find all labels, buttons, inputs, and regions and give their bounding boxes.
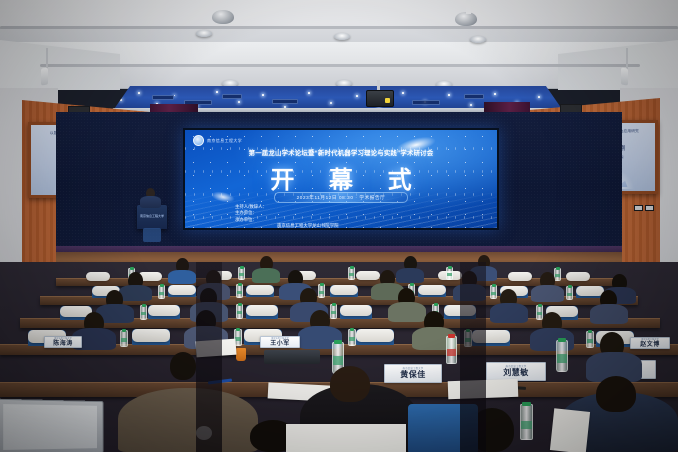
- audience-shoulders: [396, 268, 424, 283]
- water-bottle: [348, 329, 356, 346]
- ceiling-spotlight-icon: [336, 80, 352, 87]
- audience-head: [170, 352, 196, 380]
- headrest: [132, 329, 170, 342]
- headrest: [330, 285, 358, 295]
- foreground-head: [596, 376, 636, 412]
- headrest: [148, 305, 180, 316]
- water-bottle: [566, 286, 573, 300]
- ceiling-dome-camera-icon: [455, 12, 477, 26]
- headrest: [508, 272, 532, 281]
- water-bottle: [556, 340, 568, 372]
- water-bottle: [120, 330, 128, 347]
- water-bottle: [140, 305, 147, 320]
- ceiling-rail-upper: [0, 26, 678, 29]
- drink-cup: [236, 348, 246, 361]
- name-card-name: 王小军: [270, 341, 290, 347]
- headrest: [246, 285, 274, 295]
- led-ceremony-title: 开 幕 式: [185, 160, 497, 195]
- audience-shoulders: [252, 268, 280, 283]
- headrest: [168, 285, 196, 295]
- ceiling-dome-stem: [466, 0, 471, 14]
- led-university-logo: 南京信息工程大学: [193, 135, 242, 146]
- ceiling-dome-camera-icon: [212, 10, 234, 24]
- name-card: 南京信息工程大学 黄保佳: [384, 364, 442, 383]
- water-bottle: [238, 267, 245, 280]
- headrest: [418, 285, 446, 295]
- led-datetime-text: 2023年11月12日 08:30 · 学术报告厅: [297, 195, 386, 201]
- headrest: [356, 271, 380, 280]
- led-conference-headline: 第一届龙山学术论坛暨“新时代机器学习理论与实践”学术研讨会: [185, 148, 497, 157]
- name-card: 南京信息工程大学 赵文博: [630, 337, 670, 349]
- headrest: [340, 305, 372, 316]
- water-bottle: [348, 267, 355, 280]
- audience-shoulders: [590, 304, 628, 324]
- paper-sheet: [550, 408, 590, 452]
- laptop-screen[interactable]: [3, 404, 97, 450]
- led-logo-text: 南京信息工程大学: [207, 138, 242, 144]
- water-bottle: [554, 268, 561, 281]
- name-card-name: 刘慧敏: [503, 369, 529, 377]
- audience-shoulders: [490, 303, 528, 323]
- water-bottle: [446, 267, 453, 280]
- name-card-org: 南京信息工程大学: [54, 338, 72, 340]
- audience-shoulders: [168, 270, 196, 284]
- ceiling-spotlight-icon: [196, 30, 212, 37]
- ceiling-spotlight-icon: [334, 33, 350, 40]
- audience-shoulders: [119, 285, 152, 301]
- led-credits-block: 主持人/致辞人： 主办单位： 承办单位： 南京信息工程大学龙山书院学院: [235, 204, 465, 228]
- wall-switch-right-2: [645, 205, 654, 211]
- foreground-person-coat: [118, 388, 258, 452]
- led-credit-line-3: 南京信息工程大学龙山书院学院: [235, 223, 465, 228]
- water-bottle: [318, 284, 325, 298]
- name-card-name: 赵文博: [640, 342, 660, 348]
- headrest: [86, 272, 110, 281]
- ceiling-spotlight-icon: [470, 36, 486, 43]
- ceiling-rail-lower: [40, 64, 640, 67]
- wall-light-right-icon: [621, 68, 628, 86]
- aisle-left: [196, 262, 222, 452]
- water-bottle: [520, 404, 533, 440]
- wall-switch-right: [634, 205, 643, 211]
- headrest: [246, 305, 278, 316]
- foreground-head: [330, 366, 370, 402]
- podium-base: [143, 228, 161, 242]
- audience-shoulders: [388, 302, 426, 322]
- water-bottle: [586, 331, 594, 348]
- audience-shoulders: [531, 285, 564, 302]
- wall-light-arm-right: [626, 48, 628, 70]
- aisle-right: [460, 262, 486, 452]
- headrest: [566, 272, 590, 281]
- led-datetime-band: 2023年11月12日 08:30 · 学术报告厅: [274, 192, 408, 203]
- paper-sheet: [286, 424, 406, 452]
- name-card: 南京信息工程大学 陈海涛: [44, 336, 82, 348]
- projector-indicator-icon: [385, 98, 390, 103]
- name-card-name: 黄保佳: [400, 371, 426, 379]
- water-bottle: [330, 304, 337, 319]
- name-card-org: 南京信息工程大学: [271, 338, 289, 340]
- water-bottle: [236, 284, 243, 298]
- name-card-org: 南京信息工程大学: [641, 339, 659, 341]
- water-bottle: [490, 285, 497, 299]
- electronic-device: [264, 350, 320, 364]
- podium-front-text: 南京信息工程大学: [140, 214, 164, 218]
- podium: 南京信息工程大学: [137, 205, 167, 229]
- headrest: [356, 329, 394, 342]
- water-bottle: [158, 285, 165, 299]
- main-led-screen: 南京信息工程大学 第一届龙山学术论坛暨“新时代机器学习理论与实践”学术研讨会 开…: [183, 128, 499, 230]
- water-bottle: [446, 336, 457, 364]
- lecture-hall-photo: 以数字金融智能分析技术研究及应用研究 学术报告 报告人：吴雪刚 南京信息工程大学…: [0, 0, 678, 452]
- ceiling-spotlight-icon: [222, 80, 238, 87]
- speaker-body: [140, 196, 161, 208]
- wall-light-left-icon: [41, 68, 48, 86]
- university-emblem-icon: [193, 135, 204, 146]
- name-card: 南京信息工程大学 王小军: [260, 336, 300, 348]
- laptop[interactable]: [0, 399, 103, 452]
- name-card-name: 陈海涛: [53, 341, 73, 347]
- water-bottle: [236, 304, 243, 319]
